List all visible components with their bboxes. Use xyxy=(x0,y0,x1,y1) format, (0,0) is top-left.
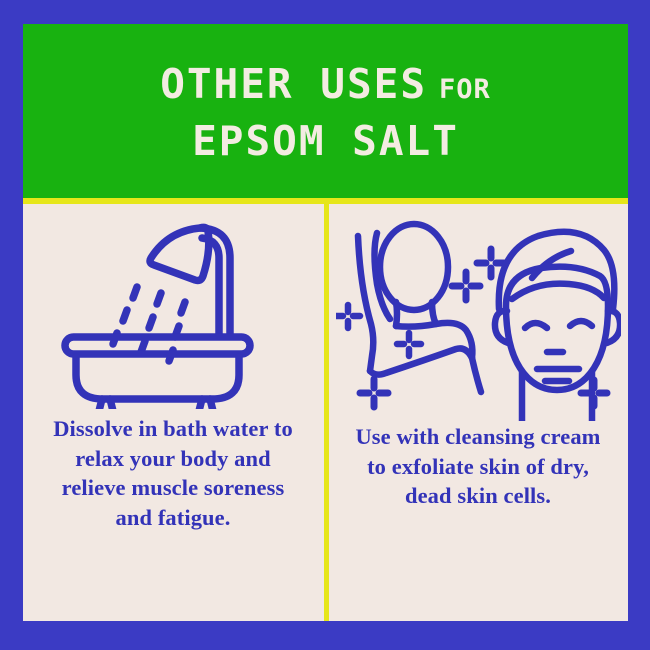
bathtub-shower-icon-svg xyxy=(48,209,298,409)
poster-title-line-1: OTHER USES FOR xyxy=(160,64,491,105)
panels-container: Dissolve in bath water to relax your bod… xyxy=(23,204,628,621)
panel-bath-caption: Dissolve in bath water to relax your bod… xyxy=(47,414,299,533)
panel-exfoliate: Use with cleansing cream to exfoliate sk… xyxy=(328,204,628,621)
poster-content-area: OTHER USES FOR EPSOM SALT xyxy=(23,24,628,621)
face-exfoliate-icon xyxy=(328,204,628,422)
poster-title-line-2: EPSOM SALT xyxy=(192,121,459,162)
panel-bath: Dissolve in bath water to relax your bod… xyxy=(23,204,323,621)
infographic-poster: OTHER USES FOR EPSOM SALT xyxy=(0,0,650,650)
header-band: OTHER USES FOR EPSOM SALT xyxy=(23,24,628,198)
title-main-text: OTHER USES xyxy=(160,64,427,105)
panel-exfoliate-caption: Use with cleansing cream to exfoliate sk… xyxy=(353,422,603,511)
title-small-text: FOR xyxy=(439,76,491,103)
face-exfoliate-icon-svg xyxy=(336,206,621,421)
bathtub-shower-icon xyxy=(23,204,323,414)
